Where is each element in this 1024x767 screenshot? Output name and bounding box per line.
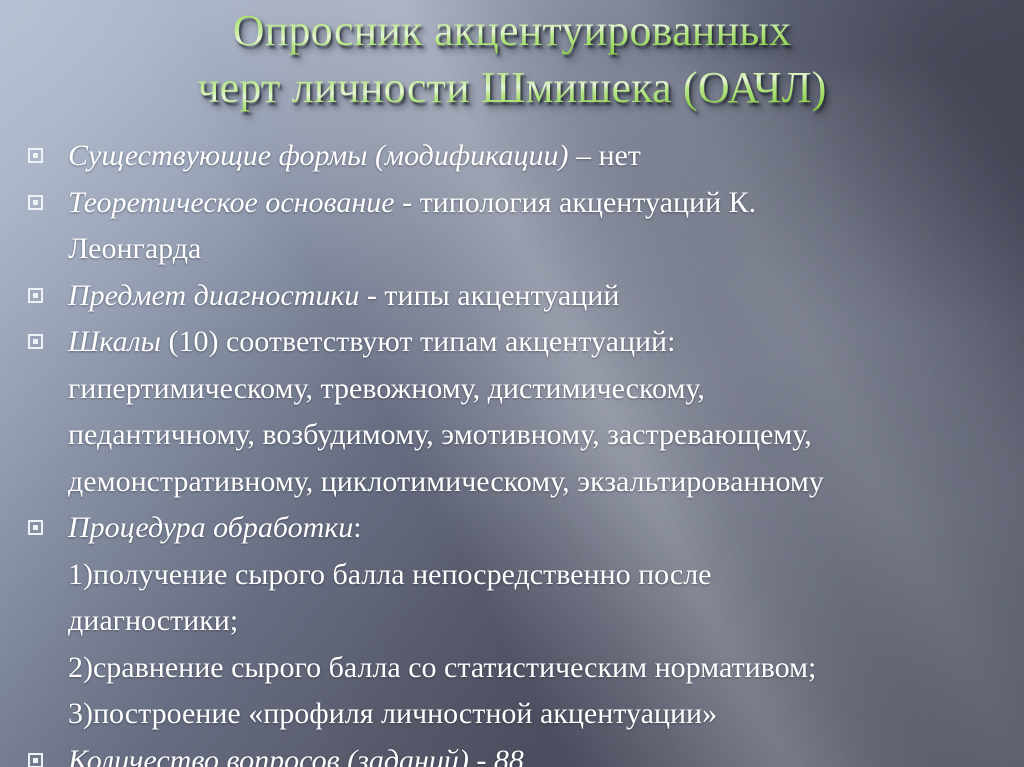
bullet-line-emphasis: Шкалы <box>68 325 161 358</box>
bullet-line-plain: – нет <box>568 139 640 172</box>
bullet-line: гипертимическому, тревожному, дистимичес… <box>68 366 1024 413</box>
bullet-line-emphasis: Теоретическое основание <box>68 186 395 219</box>
bullet-line: демонстративному, циклотимическому, экза… <box>68 459 1024 506</box>
bullet-line: Процедура обработки: <box>68 505 1024 552</box>
bullet-line: педантичному, возбудимому, эмотивному, з… <box>68 412 1024 459</box>
square-bullet-icon <box>28 334 43 349</box>
bullet-line: Предмет диагностики - типы акцентуаций <box>68 273 1024 320</box>
list-item: Процедура обработки: 1)получение сырого … <box>0 505 1024 738</box>
bullet-line-plain: 2)сравнение сырого балла со статистическ… <box>68 651 816 684</box>
bullet-line-plain: - типология акцентуаций К. <box>395 186 757 219</box>
bullet-line: Шкалы (10) соответствуют типам акцентуац… <box>68 319 1024 366</box>
list-item: Шкалы (10) соответствуют типам акцентуац… <box>0 319 1024 505</box>
square-bullet-icon <box>28 753 43 767</box>
list-item: Предмет диагностики - типы акцентуаций <box>0 273 1024 320</box>
bullet-line: 2)сравнение сырого балла со статистическ… <box>68 645 1024 692</box>
bullet-line-plain: 1)получение сырого балла непосредственно… <box>68 558 712 591</box>
list-item: Количество вопросов (заданий) - 88 <box>0 738 1024 767</box>
bullet-line-plain: гипертимическому, тревожному, дистимичес… <box>68 372 705 405</box>
square-bullet-icon <box>28 195 43 210</box>
bullet-line-emphasis: Количество вопросов (заданий) - 88 <box>68 744 524 767</box>
bullet-line: 1)получение сырого балла непосредственно… <box>68 552 1024 599</box>
square-bullet-icon <box>28 288 43 303</box>
slide-title-line-2: черт личности Шмишека (ОАЧЛ) <box>0 59 1024 116</box>
bullet-line: диагностики; <box>68 598 1024 645</box>
bullet-line-plain: : <box>353 511 361 544</box>
bullet-line-plain: (10) соответствуют типам акцентуаций: <box>161 325 675 358</box>
bullet-line: Существующие формы (модификации) – нет <box>68 133 1024 180</box>
bullet-line-emphasis: Предмет диагностики <box>68 279 359 312</box>
bullet-line-plain: диагностики; <box>68 604 238 637</box>
list-item: Существующие формы (модификации) – нет <box>0 133 1024 180</box>
bullet-line: Леонгарда <box>68 226 1024 273</box>
bullet-line: 3)построение «профиля личностной акценту… <box>68 691 1024 738</box>
slide-title-line-1: Опросник акцентуированных <box>0 2 1024 59</box>
slide-body: Существующие формы (модификации) – нет Т… <box>0 133 1024 767</box>
presentation-slide: Опросник акцентуированных черт личности … <box>0 0 1024 767</box>
bullet-line-emphasis: Процедура обработки <box>68 511 353 544</box>
bullet-line-plain: Леонгарда <box>68 232 201 265</box>
bullet-line-plain: демонстративному, циклотимическому, экза… <box>68 465 824 498</box>
bullet-line: Количество вопросов (заданий) - 88 <box>68 738 1024 767</box>
square-bullet-icon <box>28 520 43 535</box>
slide-title: Опросник акцентуированных черт личности … <box>0 2 1024 116</box>
bullet-line-plain: - типы акцентуаций <box>359 279 619 312</box>
square-bullet-icon <box>28 148 43 163</box>
bullet-line: Теоретическое основание - типология акце… <box>68 180 1024 227</box>
bullet-line-plain: педантичному, возбудимому, эмотивному, з… <box>68 418 812 451</box>
bullet-line-plain: 3)построение «профиля личностной акценту… <box>68 697 717 730</box>
bullet-line-emphasis: Существующие формы (модификации) <box>68 139 568 172</box>
list-item: Теоретическое основание - типология акце… <box>0 180 1024 273</box>
